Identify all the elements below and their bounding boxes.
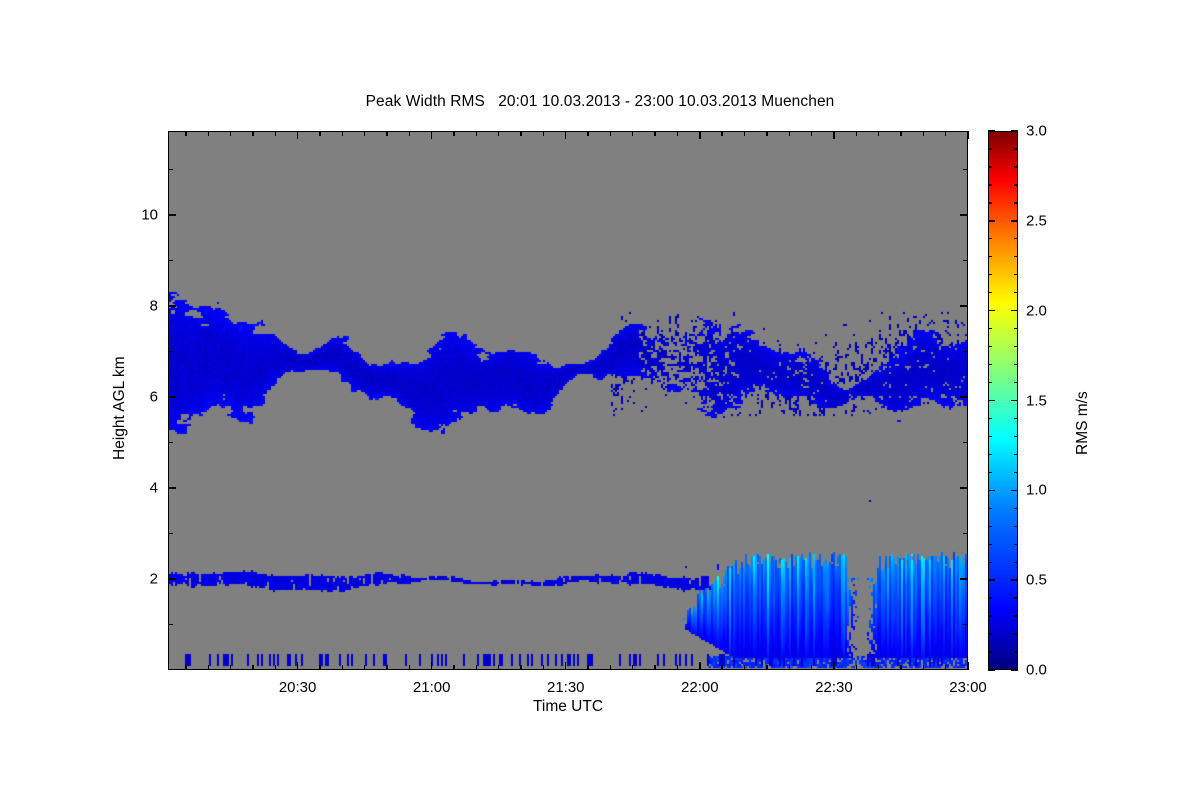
colorbar-tick-major [1011,490,1018,491]
x-tick-minor [632,665,633,670]
y-tick-minor [963,442,968,443]
y-tick-major [168,578,176,579]
colorbar-tick-label: 3.0 [1026,123,1047,140]
colorbar-tick-major [1011,579,1018,580]
x-tick-minor [677,665,678,670]
colorbar-tick-label: 0.0 [1026,662,1047,679]
colorbar-tick-label: 1.5 [1026,392,1047,409]
colorbar-tick-minor [1014,238,1018,239]
colorbar-tick-major [988,490,995,491]
colorbar-tick-minor [988,184,992,185]
x-tick-minor [900,131,901,136]
x-tick-minor [744,665,745,670]
colorbar-tick-major [988,130,995,131]
colorbar-tick-minor [988,148,992,149]
colorbar-tick-minor [1014,328,1018,329]
x-tick-minor [677,131,678,136]
colorbar-tick-minor [988,526,992,527]
x-tick-minor [409,665,410,670]
y-tick-minor [963,351,968,352]
colorbar-tick-minor [1014,633,1018,634]
x-tick-minor [744,131,745,136]
colorbar-tick-minor [988,274,992,275]
colorbar-tick-major [988,310,995,311]
colorbar-tick-minor [988,364,992,365]
colorbar-tick-minor [988,472,992,473]
y-tick-major [960,487,968,488]
colorbar-tick-minor [988,166,992,167]
y-tick-major [960,578,968,579]
x-tick-minor [945,131,946,136]
colorbar-tick-minor [988,633,992,634]
x-tick-minor [208,131,209,136]
y-tick-major [168,487,176,488]
colorbar-tick-minor [988,292,992,293]
chart-title: Peak Width RMS 20:01 10.03.2013 - 23:00 … [0,93,1200,111]
colorbar-tick-minor [1014,166,1018,167]
colorbar-tick-minor [1014,256,1018,257]
x-tick-minor [342,131,343,136]
colorbar-tick-minor [988,202,992,203]
x-tick-minor [923,665,924,670]
x-tick-minor [587,131,588,136]
x-tick-minor [878,665,879,670]
y-tick-major [168,305,176,306]
x-tick-minor [319,131,320,136]
colorbar-tick-minor [1014,472,1018,473]
x-tick-minor [476,131,477,136]
x-tick-minor [364,665,365,670]
x-tick-minor [498,131,499,136]
colorbar-label: RMS m/s [1074,391,1092,455]
y-tick-major [168,214,176,215]
y-tick-minor [963,533,968,534]
x-tick-minor [766,665,767,670]
x-tick-minor [654,131,655,136]
y-tick-label: 8 [124,298,158,315]
x-tick-major [833,131,834,139]
x-tick-minor [543,665,544,670]
x-tick-minor [610,131,611,136]
x-tick-minor [520,665,521,670]
colorbar-tick-major [988,220,995,221]
x-tick-minor [386,131,387,136]
y-tick-minor [963,169,968,170]
x-tick-minor [185,131,186,136]
colorbar-tick-minor [1014,597,1018,598]
x-tick-minor [900,665,901,670]
colorbar-tick-major [1011,220,1018,221]
colorbar-tick-minor [988,651,992,652]
x-tick-minor [319,665,320,670]
x-tick-minor [275,131,276,136]
y-tick-minor [168,533,173,534]
colorbar-tick-major [1011,400,1018,401]
x-tick-minor [878,131,879,136]
x-tick-minor [520,131,521,136]
y-tick-minor [963,260,968,261]
y-tick-minor [168,260,173,261]
colorbar-tick-major [1011,130,1018,131]
x-tick-major [297,662,298,670]
x-tick-minor [654,665,655,670]
x-tick-minor [945,665,946,670]
colorbar-tick-minor [1014,346,1018,347]
x-tick-minor [476,665,477,670]
x-tick-minor [632,131,633,136]
x-tick-minor [275,665,276,670]
colorbar-tick-minor [1014,508,1018,509]
x-tick-major [699,131,700,139]
y-tick-label: 2 [124,571,158,588]
colorbar-tick-minor [1014,382,1018,383]
x-tick-label: 22:00 [681,679,719,696]
colorbar-tick-label: 0.5 [1026,572,1047,589]
colorbar-tick-label: 2.5 [1026,212,1047,229]
colorbar-tick-minor [988,544,992,545]
x-tick-minor [252,665,253,670]
y-tick-minor [168,624,173,625]
x-tick-minor [498,665,499,670]
x-tick-major [565,662,566,670]
x-tick-minor [230,665,231,670]
colorbar-tick-minor [1014,562,1018,563]
x-tick-label: 21:00 [413,679,451,696]
x-tick-minor [923,131,924,136]
x-tick-minor [766,131,767,136]
colorbar-tick-minor [1014,274,1018,275]
x-tick-major [699,662,700,670]
colorbar-tick-minor [988,418,992,419]
colorbar-tick-minor [988,508,992,509]
x-tick-label: 22:30 [815,679,853,696]
x-tick-minor [230,131,231,136]
chart-figure: Peak Width RMS 20:01 10.03.2013 - 23:00 … [0,0,1200,800]
y-tick-minor [963,624,968,625]
colorbar-tick-major [988,579,995,580]
colorbar-tick-minor [988,328,992,329]
colorbar-tick-major [1011,310,1018,311]
x-tick-major [967,131,968,139]
y-tick-label: 6 [124,389,158,406]
x-tick-minor [610,665,611,670]
x-tick-minor [252,131,253,136]
colorbar-tick-minor [1014,148,1018,149]
colorbar-tick-minor [1014,364,1018,365]
y-tick-minor [168,169,173,170]
x-tick-minor [386,665,387,670]
x-tick-major [967,662,968,670]
x-tick-minor [543,131,544,136]
x-tick-minor [185,665,186,670]
x-tick-label: 20:30 [279,679,317,696]
colorbar-tick-minor [1014,454,1018,455]
y-tick-major [960,396,968,397]
colorbar-tick-major [988,400,995,401]
x-tick-minor [587,665,588,670]
colorbar-tick-minor [988,454,992,455]
x-tick-major [565,131,566,139]
colorbar-tick-minor [988,615,992,616]
y-tick-label: 10 [124,207,158,224]
x-tick-major [833,662,834,670]
colorbar-tick-minor [1014,292,1018,293]
y-tick-major [168,396,176,397]
x-tick-minor [789,131,790,136]
x-tick-major [297,131,298,139]
y-tick-minor [168,442,173,443]
colorbar-tick-label: 1.0 [1026,482,1047,499]
colorbar-tick-minor [1014,544,1018,545]
colorbar-tick-minor [988,382,992,383]
x-tick-minor [409,131,410,136]
colorbar-tick-minor [1014,418,1018,419]
colorbar-tick-minor [1014,526,1018,527]
x-tick-major [431,662,432,670]
colorbar-tick-minor [988,436,992,437]
plot-area [168,131,968,670]
colorbar-tick-minor [1014,184,1018,185]
colorbar-tick-major [1011,669,1018,670]
x-axis-label: Time UTC [168,698,968,716]
colorbar-tick-minor [988,346,992,347]
x-tick-minor [721,131,722,136]
x-tick-minor [856,131,857,136]
x-tick-minor [208,665,209,670]
x-tick-minor [811,131,812,136]
y-tick-major [960,214,968,215]
colorbar-tick-minor [988,562,992,563]
heatmap-canvas [169,132,968,670]
x-tick-label: 21:30 [547,679,585,696]
x-tick-minor [453,665,454,670]
colorbar-tick-minor [988,597,992,598]
x-tick-minor [342,665,343,670]
x-tick-minor [721,665,722,670]
colorbar-tick-minor [1014,202,1018,203]
x-tick-major [431,131,432,139]
colorbar-tick-major [988,669,995,670]
x-tick-minor [789,665,790,670]
y-tick-label: 4 [124,480,158,497]
colorbar-tick-minor [1014,651,1018,652]
colorbar-tick-label: 2.0 [1026,302,1047,319]
y-tick-minor [168,351,173,352]
y-axis-label: Height AGL km [111,356,129,460]
x-tick-minor [811,665,812,670]
y-tick-major [960,305,968,306]
x-tick-minor [364,131,365,136]
colorbar-tick-minor [988,238,992,239]
x-tick-label: 23:00 [949,679,987,696]
colorbar-tick-minor [1014,615,1018,616]
colorbar-tick-minor [988,256,992,257]
x-tick-minor [453,131,454,136]
x-tick-minor [856,665,857,670]
colorbar-tick-minor [1014,436,1018,437]
